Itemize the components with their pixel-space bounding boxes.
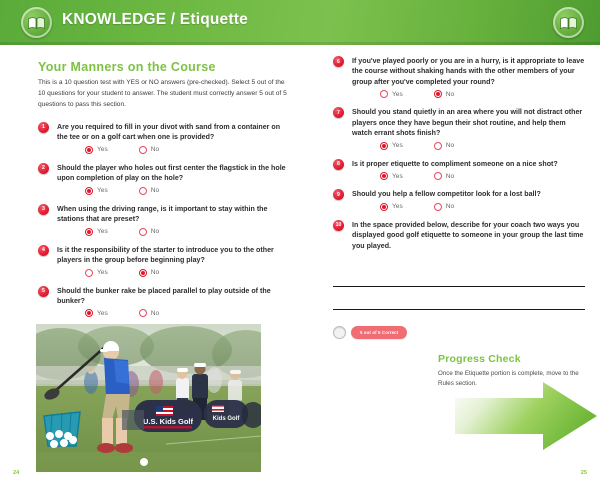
- answer-option-yes[interactable]: Yes: [380, 90, 403, 98]
- right-column: 6 If you've played poorly or you are in …: [333, 56, 585, 339]
- progress-check-text: Once the Etiquette portion is complete, …: [438, 369, 588, 389]
- question-text: If you've played poorly or you are in a …: [352, 56, 585, 87]
- answer-group: Yes No: [352, 90, 585, 98]
- section-intro: This is a 10 question test with YES or N…: [38, 78, 290, 111]
- page-title-strong: KNOWLEDGE: [62, 11, 166, 28]
- radio-yes-label: Yes: [97, 228, 108, 235]
- question-text: In the space provided below, describe fo…: [352, 220, 585, 251]
- answer-option-no[interactable]: No: [139, 187, 159, 195]
- radio-yes[interactable]: [85, 187, 93, 195]
- answer-option-no[interactable]: No: [434, 203, 454, 211]
- page-title-rest: / Etiquette: [166, 11, 248, 28]
- radio-no[interactable]: [434, 90, 442, 98]
- page-header: KNOWLEDGE / Etiquette: [0, 0, 600, 45]
- answer-option-no[interactable]: No: [434, 142, 454, 150]
- radio-yes-label: Yes: [392, 173, 403, 180]
- radio-no-label: No: [446, 173, 454, 180]
- open-book-icon-right: [553, 7, 584, 38]
- radio-yes[interactable]: [380, 203, 388, 211]
- answer-option-yes[interactable]: Yes: [380, 172, 403, 180]
- radio-yes[interactable]: [380, 172, 388, 180]
- answer-option-no[interactable]: No: [434, 172, 454, 180]
- radio-yes-label: Yes: [97, 187, 108, 194]
- answer-group: Yes No: [57, 228, 290, 236]
- radio-yes[interactable]: [380, 90, 388, 98]
- svg-text:Kids Golf: Kids Golf: [213, 416, 241, 422]
- radio-no[interactable]: [434, 142, 442, 150]
- answer-group: Yes No: [57, 187, 290, 195]
- answer-option-no[interactable]: No: [139, 269, 159, 277]
- page-number-right: 25: [581, 470, 587, 476]
- radio-no-label: No: [446, 142, 454, 149]
- radio-no[interactable]: [139, 187, 147, 195]
- radio-yes-label: Yes: [392, 142, 403, 149]
- answer-group: Yes No: [352, 142, 585, 150]
- question-number: 3: [38, 204, 49, 215]
- radio-no-label: No: [151, 269, 159, 276]
- radio-yes[interactable]: [380, 142, 388, 150]
- open-book-icon-left: [21, 7, 52, 38]
- answer-option-no[interactable]: No: [139, 309, 159, 317]
- answer-option-no[interactable]: No: [139, 228, 159, 236]
- svg-text:U.S. Kids Golf: U.S. Kids Golf: [143, 417, 194, 426]
- answer-option-yes[interactable]: Yes: [85, 228, 108, 236]
- answer-group: Yes No: [57, 309, 290, 317]
- question-number: 6: [333, 56, 344, 67]
- question-number: 9: [333, 189, 344, 200]
- question-item: 2 Should the player who holes out first …: [38, 163, 290, 195]
- answer-option-yes[interactable]: Yes: [85, 269, 108, 277]
- answer-group: Yes No: [352, 172, 585, 180]
- page-root: KNOWLEDGE / Etiquette Your Manners on th…: [0, 0, 600, 482]
- answer-option-yes[interactable]: Yes: [85, 309, 108, 317]
- score-checkbox[interactable]: [333, 326, 346, 339]
- radio-no[interactable]: [139, 269, 147, 277]
- write-line[interactable]: [333, 264, 585, 287]
- radio-no[interactable]: [434, 203, 442, 211]
- answer-group: Yes No: [57, 146, 290, 154]
- answer-option-yes[interactable]: Yes: [380, 203, 403, 211]
- radio-yes[interactable]: [85, 146, 93, 154]
- radio-no[interactable]: [139, 228, 147, 236]
- answer-option-yes[interactable]: Yes: [380, 142, 403, 150]
- radio-yes[interactable]: [85, 228, 93, 236]
- question-text: Are you required to fill in your divot w…: [57, 122, 290, 143]
- progress-check-block: Progress Check Once the Etiquette portio…: [438, 353, 588, 389]
- left-column: Your Manners on the Course This is a 10 …: [38, 60, 290, 326]
- question-number: 8: [333, 159, 344, 170]
- question-number: 4: [38, 245, 49, 256]
- radio-no-label: No: [151, 310, 159, 317]
- page-number-left: 24: [13, 470, 19, 476]
- question-item: 6 If you've played poorly or you are in …: [333, 56, 585, 98]
- answer-group: Yes No: [352, 203, 585, 211]
- question-number: 2: [38, 163, 49, 174]
- question-text: Should you help a fellow competitor look…: [352, 189, 585, 199]
- radio-no-label: No: [151, 146, 159, 153]
- question-text: Is it the responsibility of the starter …: [57, 245, 290, 266]
- question-text: Should the player who holes out first ce…: [57, 163, 290, 184]
- section-title: Your Manners on the Course: [38, 60, 290, 74]
- question-item: 8 Is it proper etiquette to compliment s…: [333, 159, 585, 180]
- radio-no-label: No: [151, 228, 159, 235]
- radio-yes-label: Yes: [97, 146, 108, 153]
- progress-arrow-icon: [455, 382, 597, 460]
- golf-photo: U.S. Kids Golf Kids Golf: [36, 324, 261, 472]
- radio-yes[interactable]: [85, 269, 93, 277]
- page-title: KNOWLEDGE / Etiquette: [62, 11, 248, 29]
- answer-option-yes[interactable]: Yes: [85, 187, 108, 195]
- answer-option-no[interactable]: No: [139, 146, 159, 154]
- question-number: 1: [38, 122, 49, 133]
- radio-no-label: No: [151, 187, 159, 194]
- question-number: 10: [333, 220, 344, 231]
- question-text: Should the bunker rake be placed paralle…: [57, 286, 290, 307]
- question-item: 1 Are you required to fill in your divot…: [38, 122, 290, 154]
- write-line[interactable]: [333, 287, 585, 310]
- radio-yes[interactable]: [85, 309, 93, 317]
- question-item: 9 Should you help a fellow competitor lo…: [333, 189, 585, 210]
- question-number: 5: [38, 286, 49, 297]
- question-text: When using the driving range, is it impo…: [57, 204, 290, 225]
- radio-yes-label: Yes: [97, 269, 108, 276]
- score-badge: 5 out of 5 Correct: [351, 326, 407, 339]
- radio-yes-label: Yes: [392, 203, 403, 210]
- progress-check-title: Progress Check: [438, 353, 588, 365]
- radio-no[interactable]: [434, 172, 442, 180]
- score-row: 5 out of 5 Correct: [333, 326, 585, 339]
- question-text: Is it proper etiquette to compliment som…: [352, 159, 585, 169]
- question-item: 10 In the space provided below, describe…: [333, 220, 585, 251]
- radio-no-label: No: [446, 203, 454, 210]
- radio-no[interactable]: [139, 309, 147, 317]
- answer-group: Yes No: [57, 269, 290, 277]
- question-text: Should you stand quietly in an area wher…: [352, 107, 585, 138]
- radio-no[interactable]: [139, 146, 147, 154]
- question-item: 3 When using the driving range, is it im…: [38, 204, 290, 236]
- free-response-area[interactable]: [333, 264, 585, 310]
- radio-no-label: No: [446, 91, 454, 98]
- radio-yes-label: Yes: [97, 310, 108, 317]
- radio-yes-label: Yes: [392, 91, 403, 98]
- question-number: 7: [333, 107, 344, 118]
- question-item: 5 Should the bunker rake be placed paral…: [38, 286, 290, 318]
- answer-option-yes[interactable]: Yes: [85, 146, 108, 154]
- question-item: 7 Should you stand quietly in an area wh…: [333, 107, 585, 149]
- answer-option-no[interactable]: No: [434, 90, 454, 98]
- question-item: 4 Is it the responsibility of the starte…: [38, 245, 290, 277]
